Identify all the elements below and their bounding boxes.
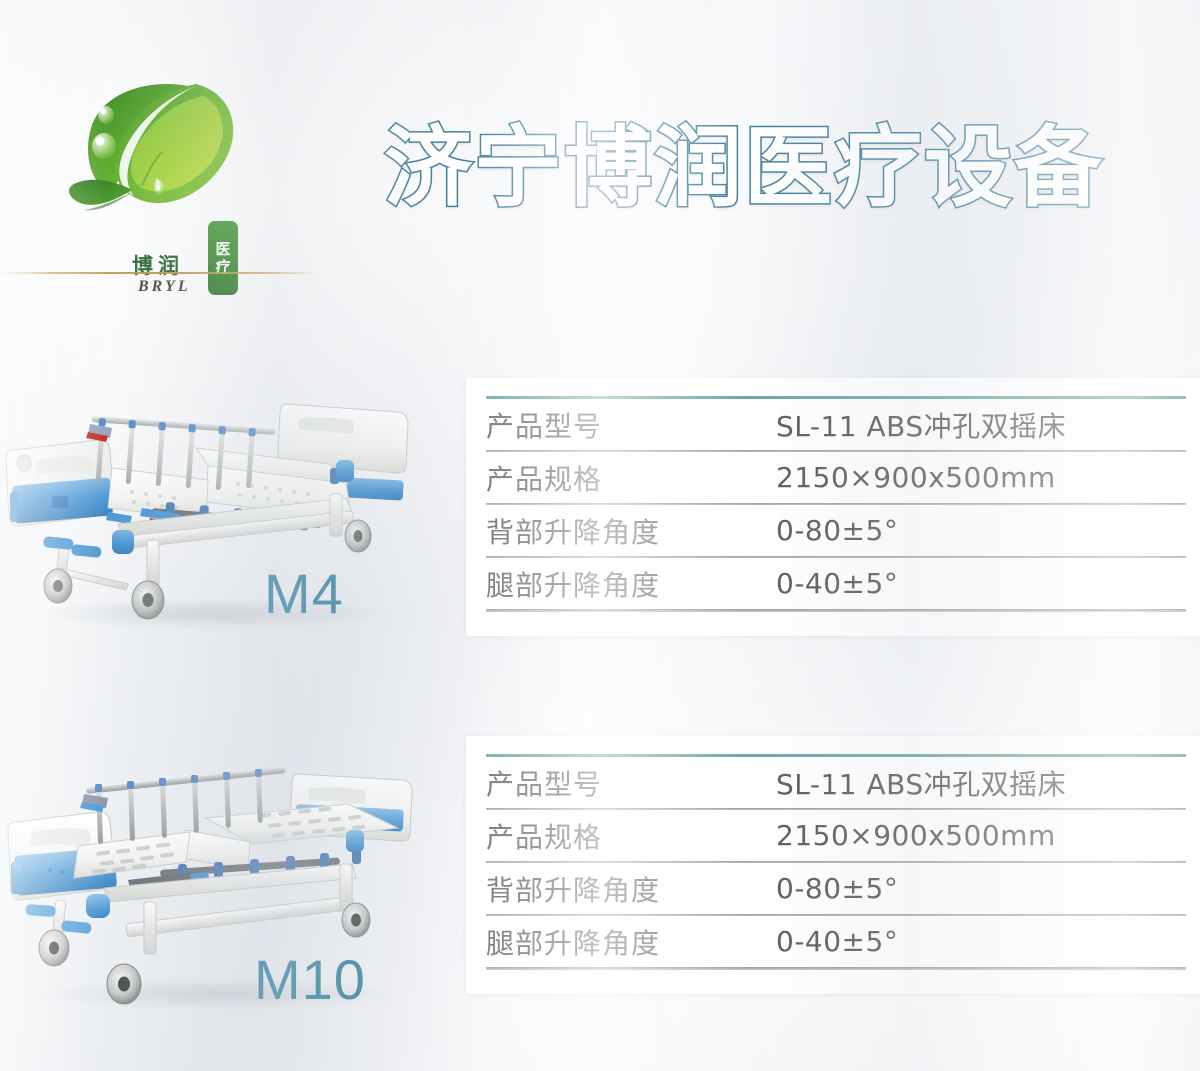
spec-row: 背部升降角度 0-80±5° [486,505,1186,556]
spec-value: 0-80±5° [776,514,1186,547]
spec-value: SL-11 ABS冲孔双摇床 [776,405,1186,445]
product-poster: 博润 BRYL 医 疗 济宁博润医疗设备 [0,0,1200,1071]
spec-label: 产品型号 [486,405,776,445]
spec-label: 腿部升降角度 [486,922,776,962]
product-block-m10: M10 [0,752,440,1020]
spec-value: 2150×900x500mm [776,461,1186,494]
header-divider [0,272,316,274]
spec-value: SL-11 ABS冲孔双摇床 [776,763,1186,803]
spec-row: 产品型号 SL-11 ABS冲孔双摇床 [486,757,1186,808]
medical-badge-char-1: 医 [215,241,230,257]
spec-label: 背部升降角度 [486,869,776,909]
spec-value: 2150×900x500mm [776,819,1186,852]
spec-card-m4: 产品型号 SL-11 ABS冲孔双摇床 产品规格 2150×900x500mm … [466,378,1200,636]
spec-label: 腿部升降角度 [486,564,776,604]
spec-row: 腿部升降角度 0-40±5° [486,558,1186,609]
spec-row: 产品型号 SL-11 ABS冲孔双摇床 [486,399,1186,450]
spec-row: 产品规格 2150×900x500mm [486,810,1186,861]
model-tag-m4: M4 [264,566,344,622]
model-tag-m10: M10 [254,952,366,1008]
spec-value: 0-40±5° [776,567,1186,600]
spec-row: 产品规格 2150×900x500mm [486,452,1186,503]
medical-badge: 医 疗 [208,221,238,295]
spec-value: 0-40±5° [776,925,1186,958]
spec-row: 腿部升降角度 0-40±5° [486,916,1186,967]
spec-card-m10: 产品型号 SL-11 ABS冲孔双摇床 产品规格 2150×900x500mm … [466,736,1200,994]
brand-name-en: BRYL [138,278,191,296]
spec-label: 产品规格 [486,816,776,856]
hospital-bed-m4-image [0,388,420,636]
brand-name-cn: 博润 [132,250,184,280]
green-leaf-waterdrop-logo [28,60,288,260]
spec-label: 产品型号 [486,763,776,803]
spec-label: 背部升降角度 [486,511,776,551]
product-block-m4: M4 [0,388,430,638]
spec-label: 产品规格 [486,458,776,498]
brand-logo: 博润 BRYL 医 疗 [28,60,308,270]
spec-value: 0-80±5° [776,872,1186,905]
spec-row: 背部升降角度 0-80±5° [486,863,1186,914]
page-title: 济宁博润医疗设备 [384,124,1104,212]
